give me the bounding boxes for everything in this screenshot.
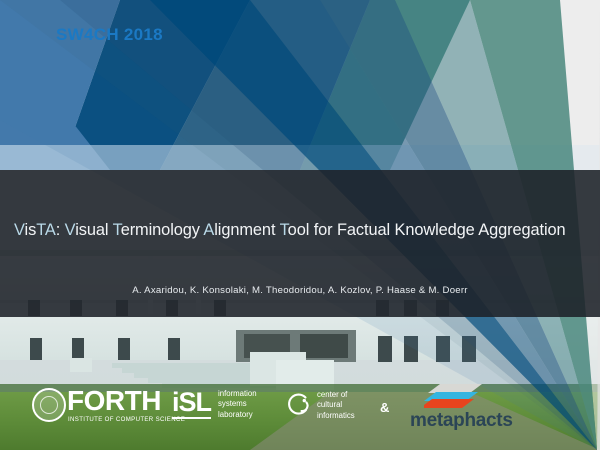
title-segment-11: T bbox=[280, 221, 288, 239]
title-segment-12: ool for Factual Knowledge Aggregation bbox=[288, 221, 566, 239]
ampersand-separator: & bbox=[380, 400, 389, 415]
presentation-title-slide: SW4CH 2018 VisTA: Visual Terminology Ali… bbox=[0, 0, 600, 450]
logo-strip: FORTH INSTITUTE OF COMPUTER SCIENCE iSL … bbox=[0, 382, 600, 444]
title-segment-5: V bbox=[65, 221, 76, 239]
isl-line-2: systems bbox=[218, 399, 257, 409]
title-segment-6: isual bbox=[75, 221, 112, 239]
forth-seal-icon bbox=[32, 388, 66, 422]
metaphacts-name: metaphacts bbox=[410, 410, 513, 432]
title-segment-2: T bbox=[36, 221, 45, 239]
metaphacts-layers-icon bbox=[424, 382, 490, 409]
cci-line-2: cultural bbox=[317, 400, 355, 410]
author-list: A. Axaridou, K. Konsolaki, M. Theodorido… bbox=[0, 285, 600, 296]
title-segment-10: lignment bbox=[214, 221, 279, 239]
title-segment-4: : bbox=[56, 221, 65, 239]
logo-metaphacts: metaphacts bbox=[410, 382, 513, 432]
title-segment-7: T bbox=[113, 221, 121, 239]
logo-center-cultural-informatics: center of cultural informatics bbox=[285, 390, 355, 421]
title-segment-8: erminology bbox=[121, 221, 204, 239]
logo-forth: FORTH INSTITUTE OF COMPUTER SCIENCE bbox=[32, 388, 185, 423]
cci-circle-icon bbox=[285, 392, 311, 418]
title-segment-9: A bbox=[203, 221, 214, 239]
slide-title: VisTA: Visual Terminology Alignment Tool… bbox=[14, 221, 589, 240]
title-segment-0: V bbox=[14, 221, 25, 239]
forth-name: FORTH bbox=[67, 388, 185, 415]
isl-line-1: information bbox=[218, 389, 257, 399]
forth-subtitle: INSTITUTE OF COMPUTER SCIENCE bbox=[68, 416, 185, 423]
cci-line-3: informatics bbox=[317, 411, 355, 421]
isl-mark: iSL bbox=[172, 389, 211, 419]
isl-line-3: laboratory bbox=[218, 410, 257, 420]
conference-tag: SW4CH 2018 bbox=[56, 25, 163, 45]
logo-isl: iSL information systems laboratory bbox=[172, 389, 257, 420]
cci-line-1: center of bbox=[317, 390, 355, 400]
title-segment-1: is bbox=[25, 221, 37, 239]
title-segment-3: A bbox=[45, 221, 56, 239]
